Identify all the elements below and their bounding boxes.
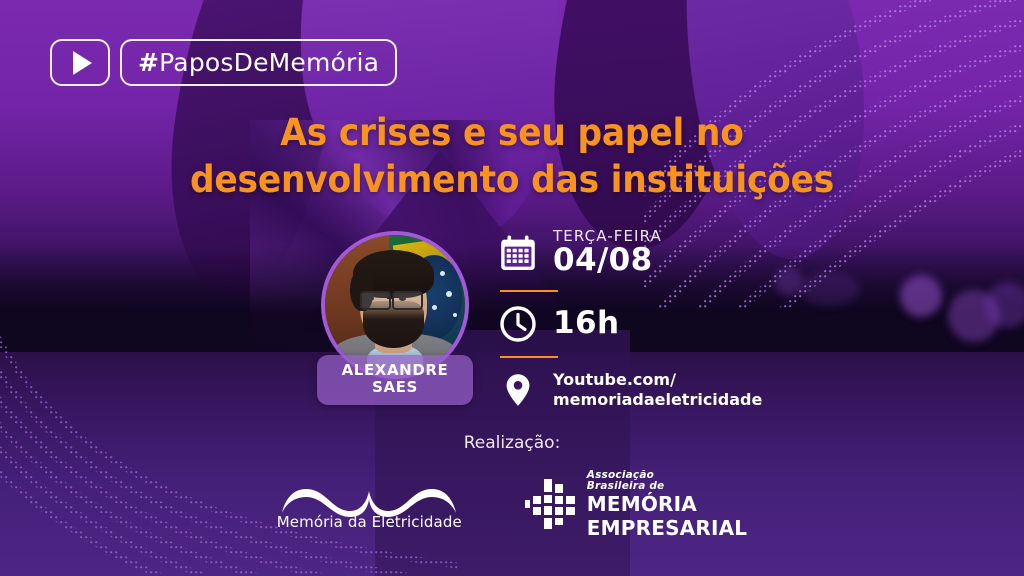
bokeh-light-1 [900,275,942,317]
calendar-icon [498,233,538,273]
abme-main-line-2: EMPRESARIAL [587,518,747,539]
title-line-2: desenvolvimento das instituições [36,157,988,204]
hash-symbol: # [138,48,159,77]
event-time-value: 16h [553,307,619,340]
play-icon [73,51,92,75]
photo-glasses-left [360,291,391,310]
event-day-month: 04/08 [553,244,662,277]
speaker-block: ALEXANDRE SAES [321,231,469,399]
photo-glasses-bridge [387,297,394,299]
event-location-line-1: Youtube.com/ [553,370,762,390]
abme-sub-line-2: Brasileira de [587,481,747,492]
speaker-name-line-2: SAES [317,379,473,396]
event-location-row[interactable]: Youtube.com/ memoriadaeletricidade [498,370,778,411]
event-title: As crises e seu papel no desenvolvimento… [36,110,988,203]
event-date-row: TERÇA-FEIRA 04/08 [498,228,778,278]
info-divider-2 [500,356,558,358]
map-pin-icon [498,370,538,410]
woven-cross-mark [524,478,576,530]
event-time-text: 16h [553,307,619,340]
footer-logos: Memória da Eletricidade [0,470,1024,539]
memoria-da-eletricidade-logo: Memória da Eletricidade [277,477,462,531]
speaker-name-badge: ALEXANDRE SAES [317,355,473,405]
bokeh-light-5 [800,272,860,306]
hashtag-label: #PaposDeMemória [138,48,379,77]
abme-sub-line-1: Associação [587,470,747,481]
abme-main-line-1: MEMÓRIA [587,494,747,515]
event-poster: #PaposDeMemória As crises e seu papel no… [0,0,1024,576]
title-line-1: As crises e seu papel no [36,110,988,157]
speaker-name-line-1: ALEXANDRE [317,362,473,379]
event-time-row: 16h [498,304,778,344]
photo-flag-star [432,305,437,310]
brand-header: #PaposDeMemória [50,39,397,86]
hashtag-text: PaposDeMemória [159,48,379,77]
bokeh-light-3 [985,282,1024,328]
photo-glasses-right [392,291,423,310]
bokeh-light-4 [775,268,803,296]
abme-text-block: Associação Brasileira de MEMÓRIA EMPRESA… [587,470,747,539]
event-location-line-2: memoriadaeletricidade [553,390,762,410]
info-divider-1 [500,290,558,292]
memoria-da-eletricidade-wordmark: Memória da Eletricidade [277,513,462,531]
speaker-photo [325,235,465,375]
event-info: TERÇA-FEIRA 04/08 16h [498,228,778,411]
realizacao-label: Realização: [0,433,1024,453]
event-location-text: Youtube.com/ memoriadaeletricidade [553,370,762,411]
hashtag-pill[interactable]: #PaposDeMemória [120,39,397,86]
clock-icon [498,304,538,344]
play-button-pill[interactable] [50,39,110,86]
abme-logo: Associação Brasileira de MEMÓRIA EMPRESA… [524,470,747,539]
wave-ribbon-mark [280,477,458,517]
event-date-text: TERÇA-FEIRA 04/08 [553,228,662,278]
